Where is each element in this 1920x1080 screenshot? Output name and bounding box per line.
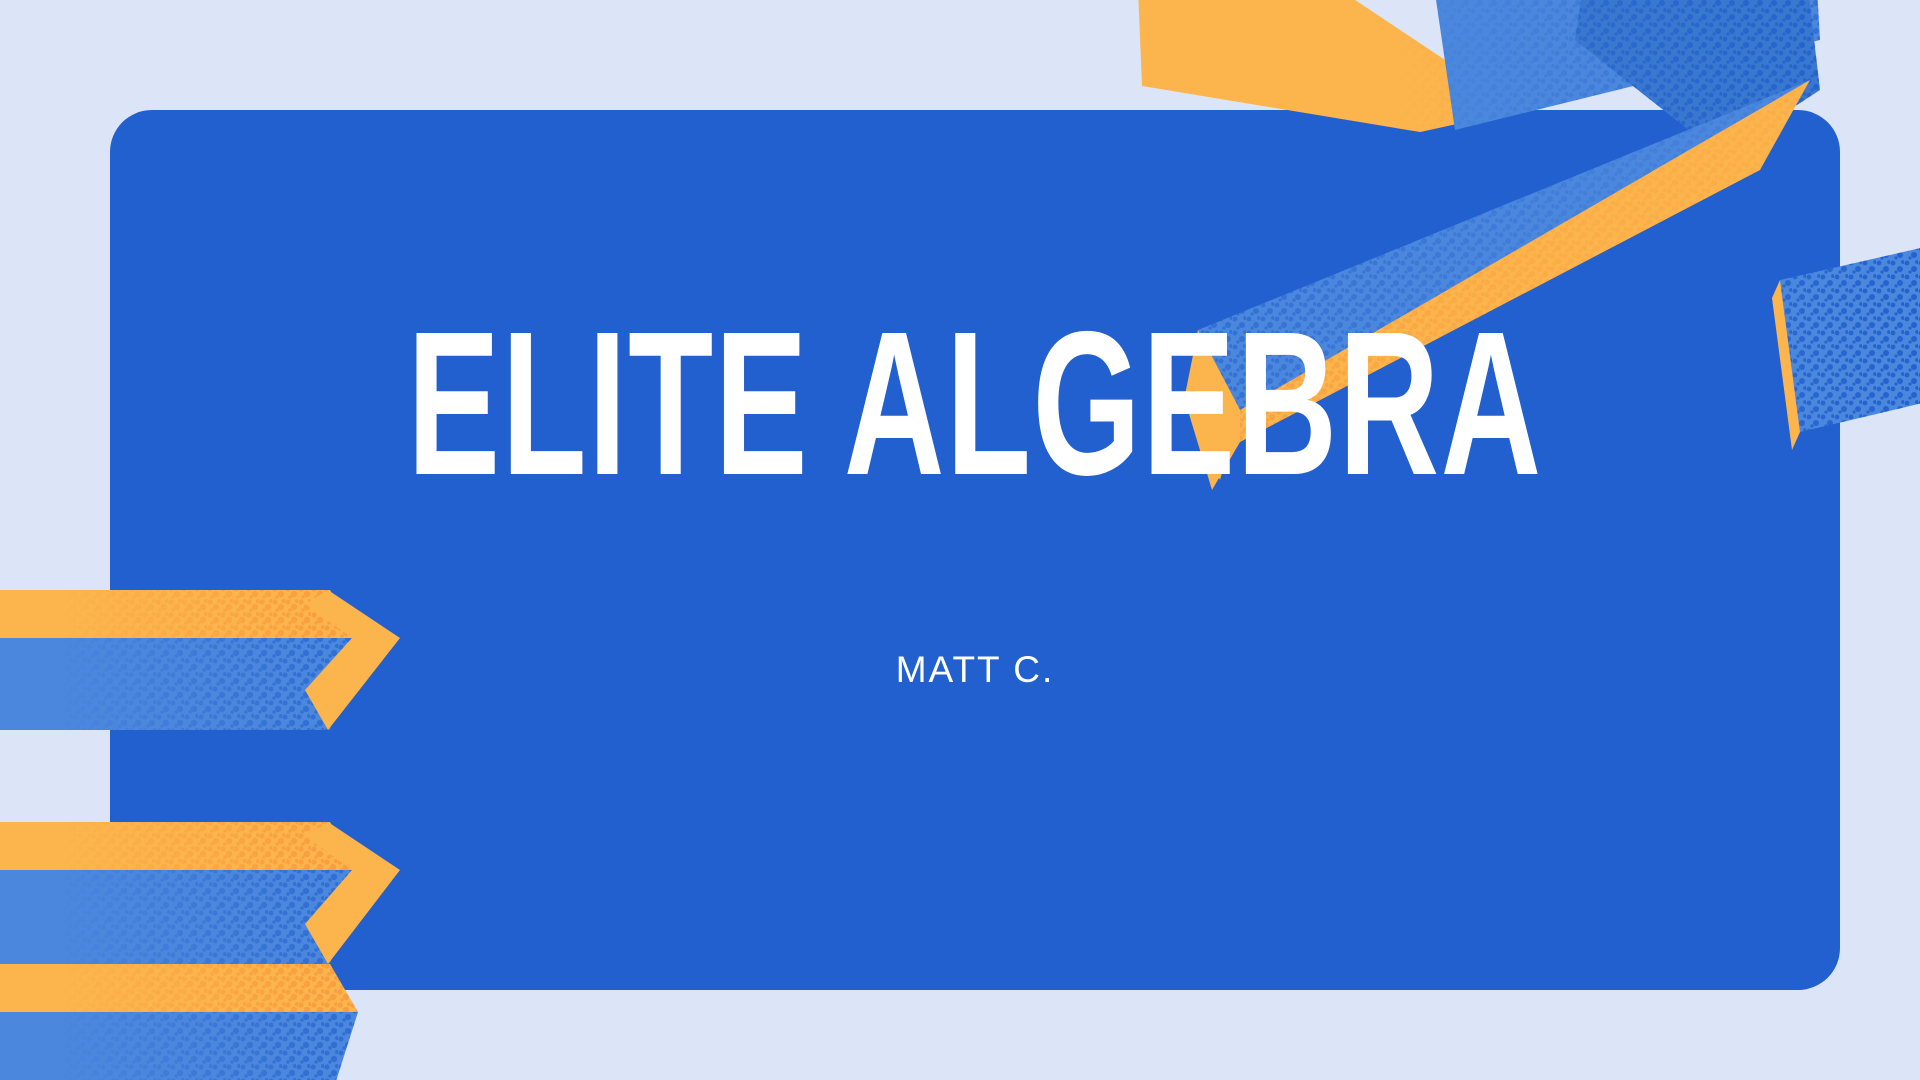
presentation-slide: ELITE ALGEBRA MATT C.: [0, 0, 1920, 1080]
ribbon-bl-blue-3: [0, 1012, 358, 1080]
title-card: [110, 110, 1840, 990]
